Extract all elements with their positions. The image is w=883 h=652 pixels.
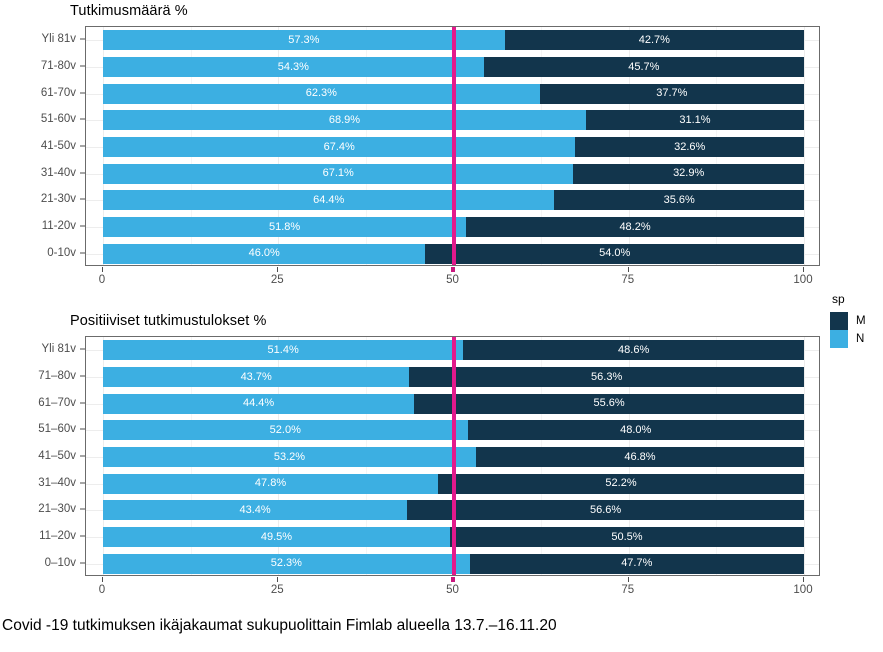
bar-segment-m: 31.1% <box>586 110 804 130</box>
reference-line-50 <box>452 337 456 575</box>
chart-title-1: Tutkimusmäärä % <box>70 3 188 19</box>
bar-value-label: 46.8% <box>624 452 655 463</box>
bar-value-label: 52.2% <box>605 478 636 489</box>
bar-segment-m: 52.2% <box>438 474 804 494</box>
bar-value-label: 44.4% <box>243 398 274 409</box>
bar-value-label: 37.7% <box>656 88 687 99</box>
bar-value-label: 31.1% <box>679 115 710 126</box>
bar-value-label: 43.7% <box>241 372 272 383</box>
bar-segment-m: 48.2% <box>466 217 804 237</box>
legend-swatch-n <box>830 330 848 348</box>
x-axis-tick-label: 50 <box>446 584 459 596</box>
x-axis-tick-mark <box>628 267 629 272</box>
bar-value-label: 67.4% <box>324 142 355 153</box>
bar-value-label: 48.6% <box>618 345 649 356</box>
y-axis-tick-label: 61–70v <box>0 397 76 409</box>
y-axis-tick-mark <box>80 226 85 227</box>
x-axis-tick-label: 50 <box>446 274 459 286</box>
y-axis-tick-mark <box>80 456 85 457</box>
bar-value-label: 54.0% <box>599 248 630 259</box>
bar-segment-n: 67.1% <box>103 164 573 184</box>
bar-segment-n: 43.7% <box>103 367 409 387</box>
plot-area-2: 51.4%48.6%43.7%56.3%44.4%55.6%52.0%48.0%… <box>85 336 820 576</box>
y-axis-tick-mark <box>80 172 85 173</box>
x-axis-tick-label: 0 <box>99 584 105 596</box>
x-axis-tick-label: 100 <box>793 274 812 286</box>
bar-segment-n: 51.8% <box>103 217 466 237</box>
covid-age-distribution-figure: Tutkimusmäärä % 57.3%42.7%54.3%45.7%62.3… <box>0 0 883 652</box>
legend-title: sp <box>832 292 866 306</box>
y-axis-tick-label: Yli 81v <box>0 33 76 45</box>
y-axis-tick-label: 31-40v <box>0 167 76 179</box>
bar-value-label: 56.3% <box>591 372 622 383</box>
bar-segment-n: 67.4% <box>103 137 575 157</box>
x-axis-tick-mark <box>277 267 278 272</box>
y-axis-tick-label: Yli 81v <box>0 343 76 355</box>
bar-segment-n: 43.4% <box>103 500 407 520</box>
bar-value-label: 64.4% <box>313 195 344 206</box>
y-axis-tick-mark <box>80 119 85 120</box>
y-axis-tick-mark <box>80 39 85 40</box>
bar-value-label: 35.6% <box>664 195 695 206</box>
x-axis-tick-mark <box>277 577 278 582</box>
bar-value-label: 50.5% <box>611 532 642 543</box>
y-axis-tick-mark <box>80 562 85 563</box>
reference-line-tick <box>451 577 455 582</box>
bar-value-label: 32.9% <box>673 168 704 179</box>
bar-segment-m: 45.7% <box>484 57 804 77</box>
bar-value-label: 51.4% <box>268 345 299 356</box>
legend-label: M <box>856 315 866 327</box>
bar-segment-m: 46.8% <box>476 447 804 467</box>
bar-value-label: 32.6% <box>674 142 705 153</box>
legend: sp MN <box>830 292 866 348</box>
x-axis-tick-label: 75 <box>621 584 634 596</box>
y-axis-tick-mark <box>80 252 85 253</box>
x-axis-tick-mark <box>102 577 103 582</box>
bar-segment-n: 44.4% <box>103 394 414 414</box>
bar-segment-m: 56.3% <box>409 367 804 387</box>
bar-segment-m: 35.6% <box>554 190 804 210</box>
figure-caption: Covid -19 tutkimuksen ikäjakaumat sukupu… <box>2 617 557 635</box>
bar-segment-n: 51.4% <box>103 340 463 360</box>
y-axis-tick-mark <box>80 199 85 200</box>
y-axis-tick-mark <box>80 66 85 67</box>
bar-value-label: 46.0% <box>249 248 280 259</box>
y-axis-tick-mark <box>80 376 85 377</box>
bar-value-label: 56.6% <box>590 505 621 516</box>
bar-value-label: 43.4% <box>240 505 271 516</box>
bar-segment-m: 56.6% <box>407 500 804 520</box>
y-axis-tick-mark <box>80 146 85 147</box>
y-axis-tick-label: 0-10v <box>0 247 76 259</box>
y-axis-tick-label: 51-60v <box>0 113 76 125</box>
reference-line-tick <box>451 267 455 272</box>
bar-value-label: 55.6% <box>594 398 625 409</box>
x-axis-tick-label: 0 <box>99 274 105 286</box>
bar-value-label: 51.8% <box>269 222 300 233</box>
bar-segment-n: 49.5% <box>103 527 450 547</box>
bar-segment-n: 47.8% <box>103 474 438 494</box>
bar-segment-n: 46.0% <box>103 244 425 264</box>
gridline-major-x <box>804 337 805 575</box>
legend-item-m: M <box>830 312 866 330</box>
y-axis-tick-label: 11–20v <box>0 530 76 542</box>
reference-line-50 <box>452 27 456 265</box>
y-axis-tick-label: 0–10v <box>0 557 76 569</box>
bar-value-label: 48.2% <box>619 222 650 233</box>
y-axis-tick-label: 71-80v <box>0 60 76 72</box>
bar-segment-n: 54.3% <box>103 57 484 77</box>
bar-value-label: 67.1% <box>323 168 354 179</box>
bar-value-label: 52.0% <box>270 425 301 436</box>
bar-segment-n: 52.3% <box>103 554 470 574</box>
bar-segment-n: 68.9% <box>103 110 586 130</box>
bar-segment-n: 57.3% <box>103 30 505 50</box>
x-axis-tick-mark <box>803 577 804 582</box>
bar-segment-m: 55.6% <box>414 394 804 414</box>
x-axis-tick-label: 100 <box>793 584 812 596</box>
bar-value-label: 45.7% <box>628 62 659 73</box>
bar-segment-m: 42.7% <box>505 30 804 50</box>
y-axis-tick-mark <box>80 482 85 483</box>
chart-title-2: Positiiviset tutkimustulokset % <box>70 313 267 329</box>
bar-value-label: 47.8% <box>255 478 286 489</box>
bar-segment-m: 48.0% <box>468 420 804 440</box>
legend-swatch-m <box>830 312 848 330</box>
plot-area-1: 57.3%42.7%54.3%45.7%62.3%37.7%68.9%31.1%… <box>85 26 820 266</box>
bar-segment-m: 54.0% <box>425 244 804 264</box>
legend-label: N <box>856 333 864 345</box>
bar-value-label: 49.5% <box>261 532 292 543</box>
y-axis-tick-mark <box>80 509 85 510</box>
y-axis-tick-label: 41–50v <box>0 450 76 462</box>
bar-value-label: 68.9% <box>329 115 360 126</box>
bar-value-label: 53.2% <box>274 452 305 463</box>
bar-segment-m: 37.7% <box>540 84 804 104</box>
bar-value-label: 57.3% <box>288 35 319 46</box>
y-axis-tick-mark <box>80 92 85 93</box>
y-axis-tick-label: 71–80v <box>0 370 76 382</box>
bar-segment-m: 32.9% <box>573 164 804 184</box>
legend-items: MN <box>830 312 866 348</box>
legend-item-n: N <box>830 330 866 348</box>
x-axis-tick-label: 25 <box>271 274 284 286</box>
bar-value-label: 54.3% <box>278 62 309 73</box>
y-axis-tick-mark <box>80 429 85 430</box>
y-axis-tick-mark <box>80 536 85 537</box>
y-axis-tick-label: 21-30v <box>0 193 76 205</box>
y-axis-tick-label: 21–30v <box>0 503 76 515</box>
x-axis-tick-label: 75 <box>621 274 634 286</box>
bar-segment-m: 32.6% <box>575 137 804 157</box>
y-axis-tick-label: 51–60v <box>0 423 76 435</box>
bar-segment-n: 64.4% <box>103 190 554 210</box>
bar-segment-m: 50.5% <box>450 527 804 547</box>
gridline-major-x <box>804 27 805 265</box>
bar-segment-m: 47.7% <box>470 554 804 574</box>
bar-value-label: 62.3% <box>306 88 337 99</box>
y-axis-tick-mark <box>80 402 85 403</box>
y-axis-tick-label: 41-50v <box>0 140 76 152</box>
y-axis-tick-label: 61-70v <box>0 87 76 99</box>
bar-segment-n: 52.0% <box>103 420 468 440</box>
x-axis-tick-mark <box>102 267 103 272</box>
bar-value-label: 48.0% <box>620 425 651 436</box>
bar-segment-n: 53.2% <box>103 447 476 467</box>
y-axis-tick-label: 31–40v <box>0 477 76 489</box>
bar-value-label: 52.3% <box>271 558 302 569</box>
bar-value-label: 42.7% <box>639 35 670 46</box>
x-axis-tick-mark <box>803 267 804 272</box>
x-axis-tick-mark <box>628 577 629 582</box>
bar-segment-m: 48.6% <box>463 340 804 360</box>
y-axis-tick-mark <box>80 349 85 350</box>
bar-segment-n: 62.3% <box>103 84 540 104</box>
y-axis-tick-label: 11-20v <box>0 220 76 232</box>
bar-value-label: 47.7% <box>621 558 652 569</box>
x-axis-tick-label: 25 <box>271 584 284 596</box>
